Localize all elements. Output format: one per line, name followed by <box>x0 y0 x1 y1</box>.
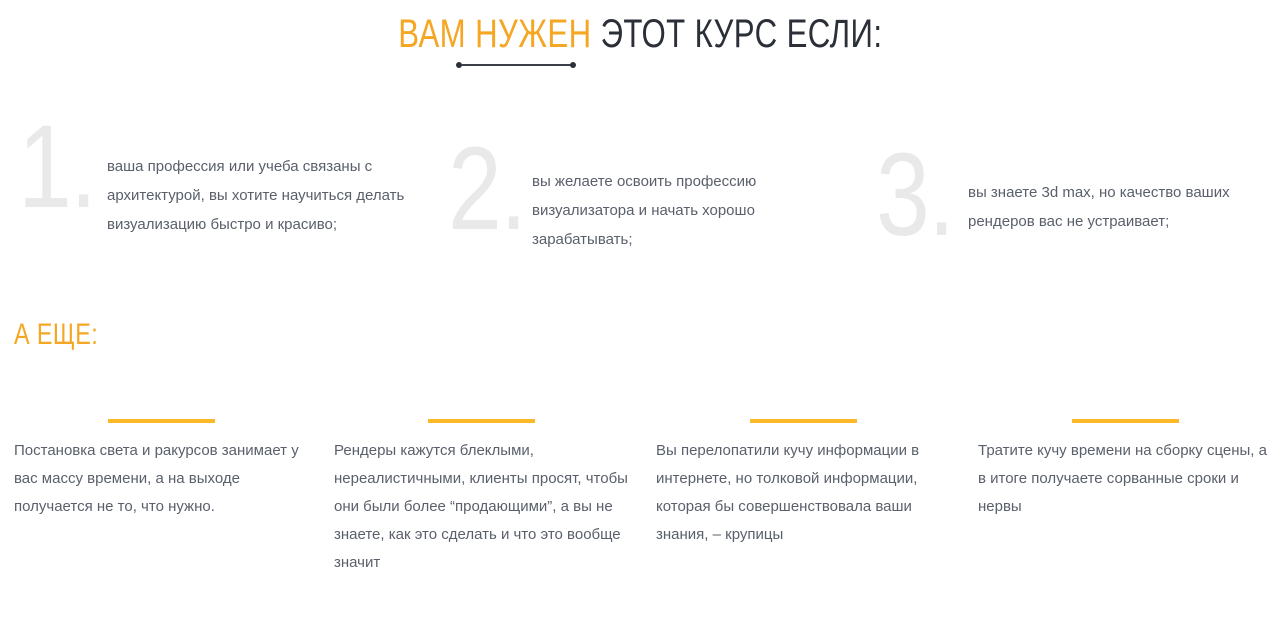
also-section-heading-text: А ЕЩЕ: <box>14 316 98 354</box>
pain-text-3: Вы перелопатили кучу информации в интерн… <box>656 437 951 549</box>
reason-number-2: 2. <box>448 130 525 248</box>
divider-dot-right-icon <box>570 62 576 68</box>
pain-text-4: Тратите кучу времени на сборку сцены, а … <box>978 437 1268 521</box>
reason-number-3: 3. <box>876 136 953 254</box>
reasons-list: 1. ваша профессия или учеба связаны с ар… <box>0 130 1280 280</box>
pains-list: Постановка света и ракурсов занимает у в… <box>0 415 1280 615</box>
reason-item-1: 1. ваша профессия или учеба связаны с ар… <box>0 130 430 280</box>
pain-accent-rule-2 <box>428 419 535 423</box>
pain-text-1: Постановка света и ракурсов занимает у в… <box>14 437 309 521</box>
reason-number-1: 1. <box>18 108 95 226</box>
reason-item-2: 2. вы желаете освоить профессию визуализ… <box>430 130 860 280</box>
page-header: ВАМ НУЖЕН ЭТОТ КУРС ЕСЛИ: <box>0 0 1280 90</box>
pain-accent-rule-3 <box>750 419 857 423</box>
page-title: ВАМ НУЖЕН ЭТОТ КУРС ЕСЛИ: <box>0 12 1280 56</box>
page-title-accent: ВАМ НУЖЕН <box>398 12 600 56</box>
pain-text-2: Рендеры кажутся блеклыми, нереалистичным… <box>334 437 629 577</box>
divider-bar <box>461 64 571 66</box>
reason-text-1: ваша профессия или учеба связаны с архит… <box>107 152 422 239</box>
reason-text-3: вы знаете 3d max, но качество ваших ренд… <box>968 178 1280 236</box>
title-divider <box>456 62 576 68</box>
also-section-heading: А ЕЩЕ: <box>14 316 122 354</box>
page-title-inner: ВАМ НУЖЕН ЭТОТ КУРС ЕСЛИ: <box>398 12 882 56</box>
reason-text-2: вы желаете освоить профессию визуализато… <box>532 167 842 254</box>
page-title-rest: ЭТОТ КУРС ЕСЛИ: <box>600 12 882 56</box>
reason-item-3: 3. вы знаете 3d max, но качество ваших р… <box>858 130 1280 280</box>
pain-accent-rule-4 <box>1072 419 1179 423</box>
pain-accent-rule-1 <box>108 419 215 423</box>
